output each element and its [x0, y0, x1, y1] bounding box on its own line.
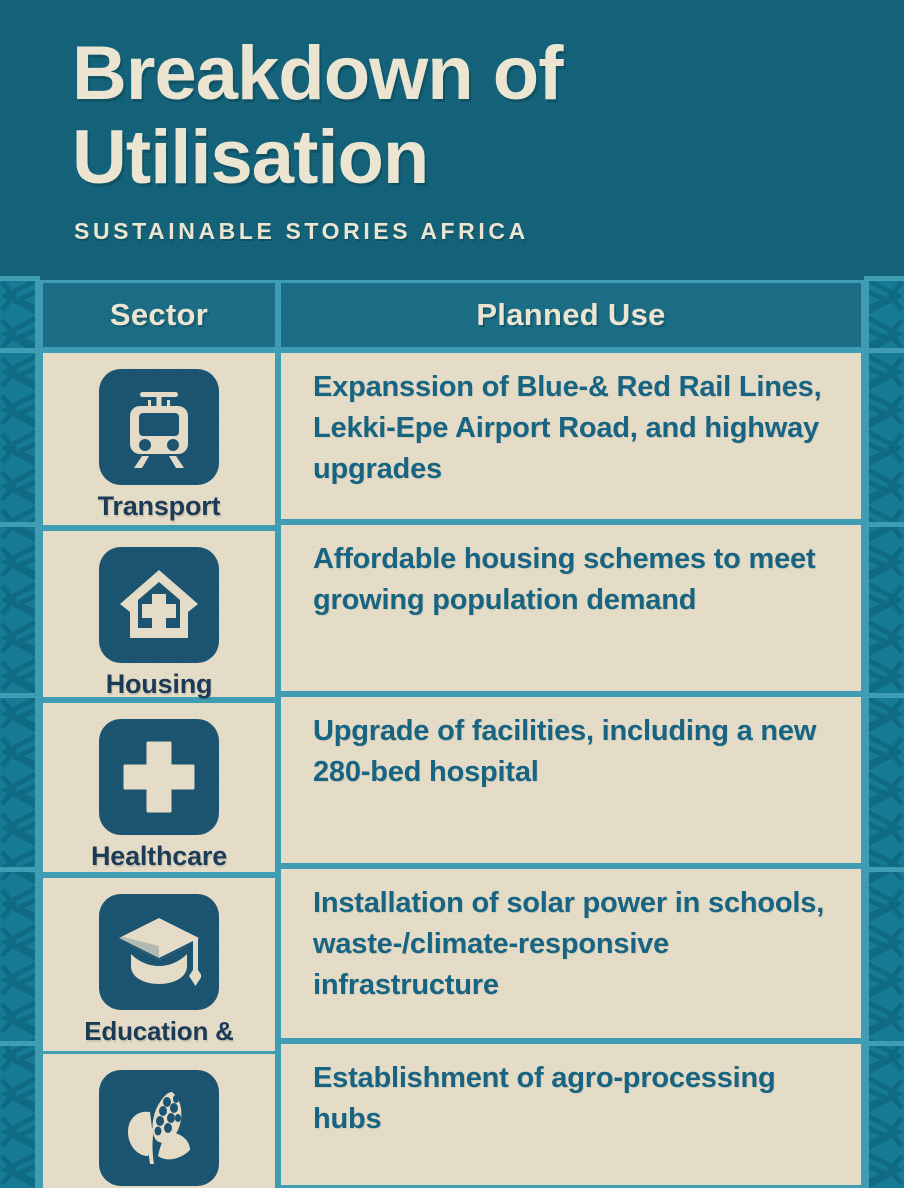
- planned-use-text: Affordable housing schemes to meet growi…: [313, 539, 839, 621]
- column-header-sector-label: Sector: [110, 297, 208, 333]
- sector-label: Healthcare: [91, 841, 227, 872]
- page-title-line-1: Breakdown of: [72, 32, 832, 116]
- column-header-sector: Sector: [40, 280, 278, 350]
- planned-use-text: Establishment of agro-processing hubs: [313, 1058, 839, 1140]
- table-header-row: Sector Planned Use: [40, 280, 864, 350]
- table-row: Healthcare: [40, 700, 278, 875]
- corn-icon: [99, 1070, 219, 1186]
- planned-use-cell: Expanssion of Blue-& Red Rail Lines, Lek…: [278, 350, 864, 522]
- table-row: Food Security: [40, 1051, 278, 1188]
- table-row: Housing: [40, 528, 278, 700]
- planned-use-cell: Upgrade of facilities, including a new 2…: [278, 694, 864, 866]
- planned-use-text: Expanssion of Blue-& Red Rail Lines, Lek…: [313, 367, 839, 490]
- page-subtitle: SUSTAINABLE STORIES AFRICA: [74, 218, 529, 245]
- sector-label: Transport: [98, 491, 221, 522]
- utilisation-table: Sector Planned Use: [0, 276, 904, 1188]
- planned-use-cell: Establishment of agro-processing hubs: [278, 1041, 864, 1188]
- planned-use-text: Upgrade of facilities, including a new 2…: [313, 711, 839, 793]
- graduation-cap-icon: [99, 894, 219, 1010]
- column-header-planned-use: Planned Use: [278, 280, 864, 350]
- sector-label: Housing: [106, 669, 213, 700]
- tram-icon: [99, 369, 219, 485]
- planned-use-cell: Affordable housing schemes to meet growi…: [278, 522, 864, 694]
- medical-cross-icon: [99, 719, 219, 835]
- table-row: Transport: [40, 350, 278, 528]
- house-plus-icon: [99, 547, 219, 663]
- column-header-planned-use-label: Planned Use: [476, 297, 665, 333]
- infographic-page: Breakdown of Utilisation SUSTAINABLE STO…: [0, 0, 904, 1188]
- page-title-line-2: Utilisation: [72, 116, 832, 200]
- planned-use-cell: Installation of solar power in schools, …: [278, 866, 864, 1041]
- page-title: Breakdown of Utilisation: [72, 32, 832, 200]
- planned-use-text: Installation of solar power in schools, …: [313, 883, 839, 1006]
- header-banner: Breakdown of Utilisation SUSTAINABLE STO…: [0, 0, 904, 276]
